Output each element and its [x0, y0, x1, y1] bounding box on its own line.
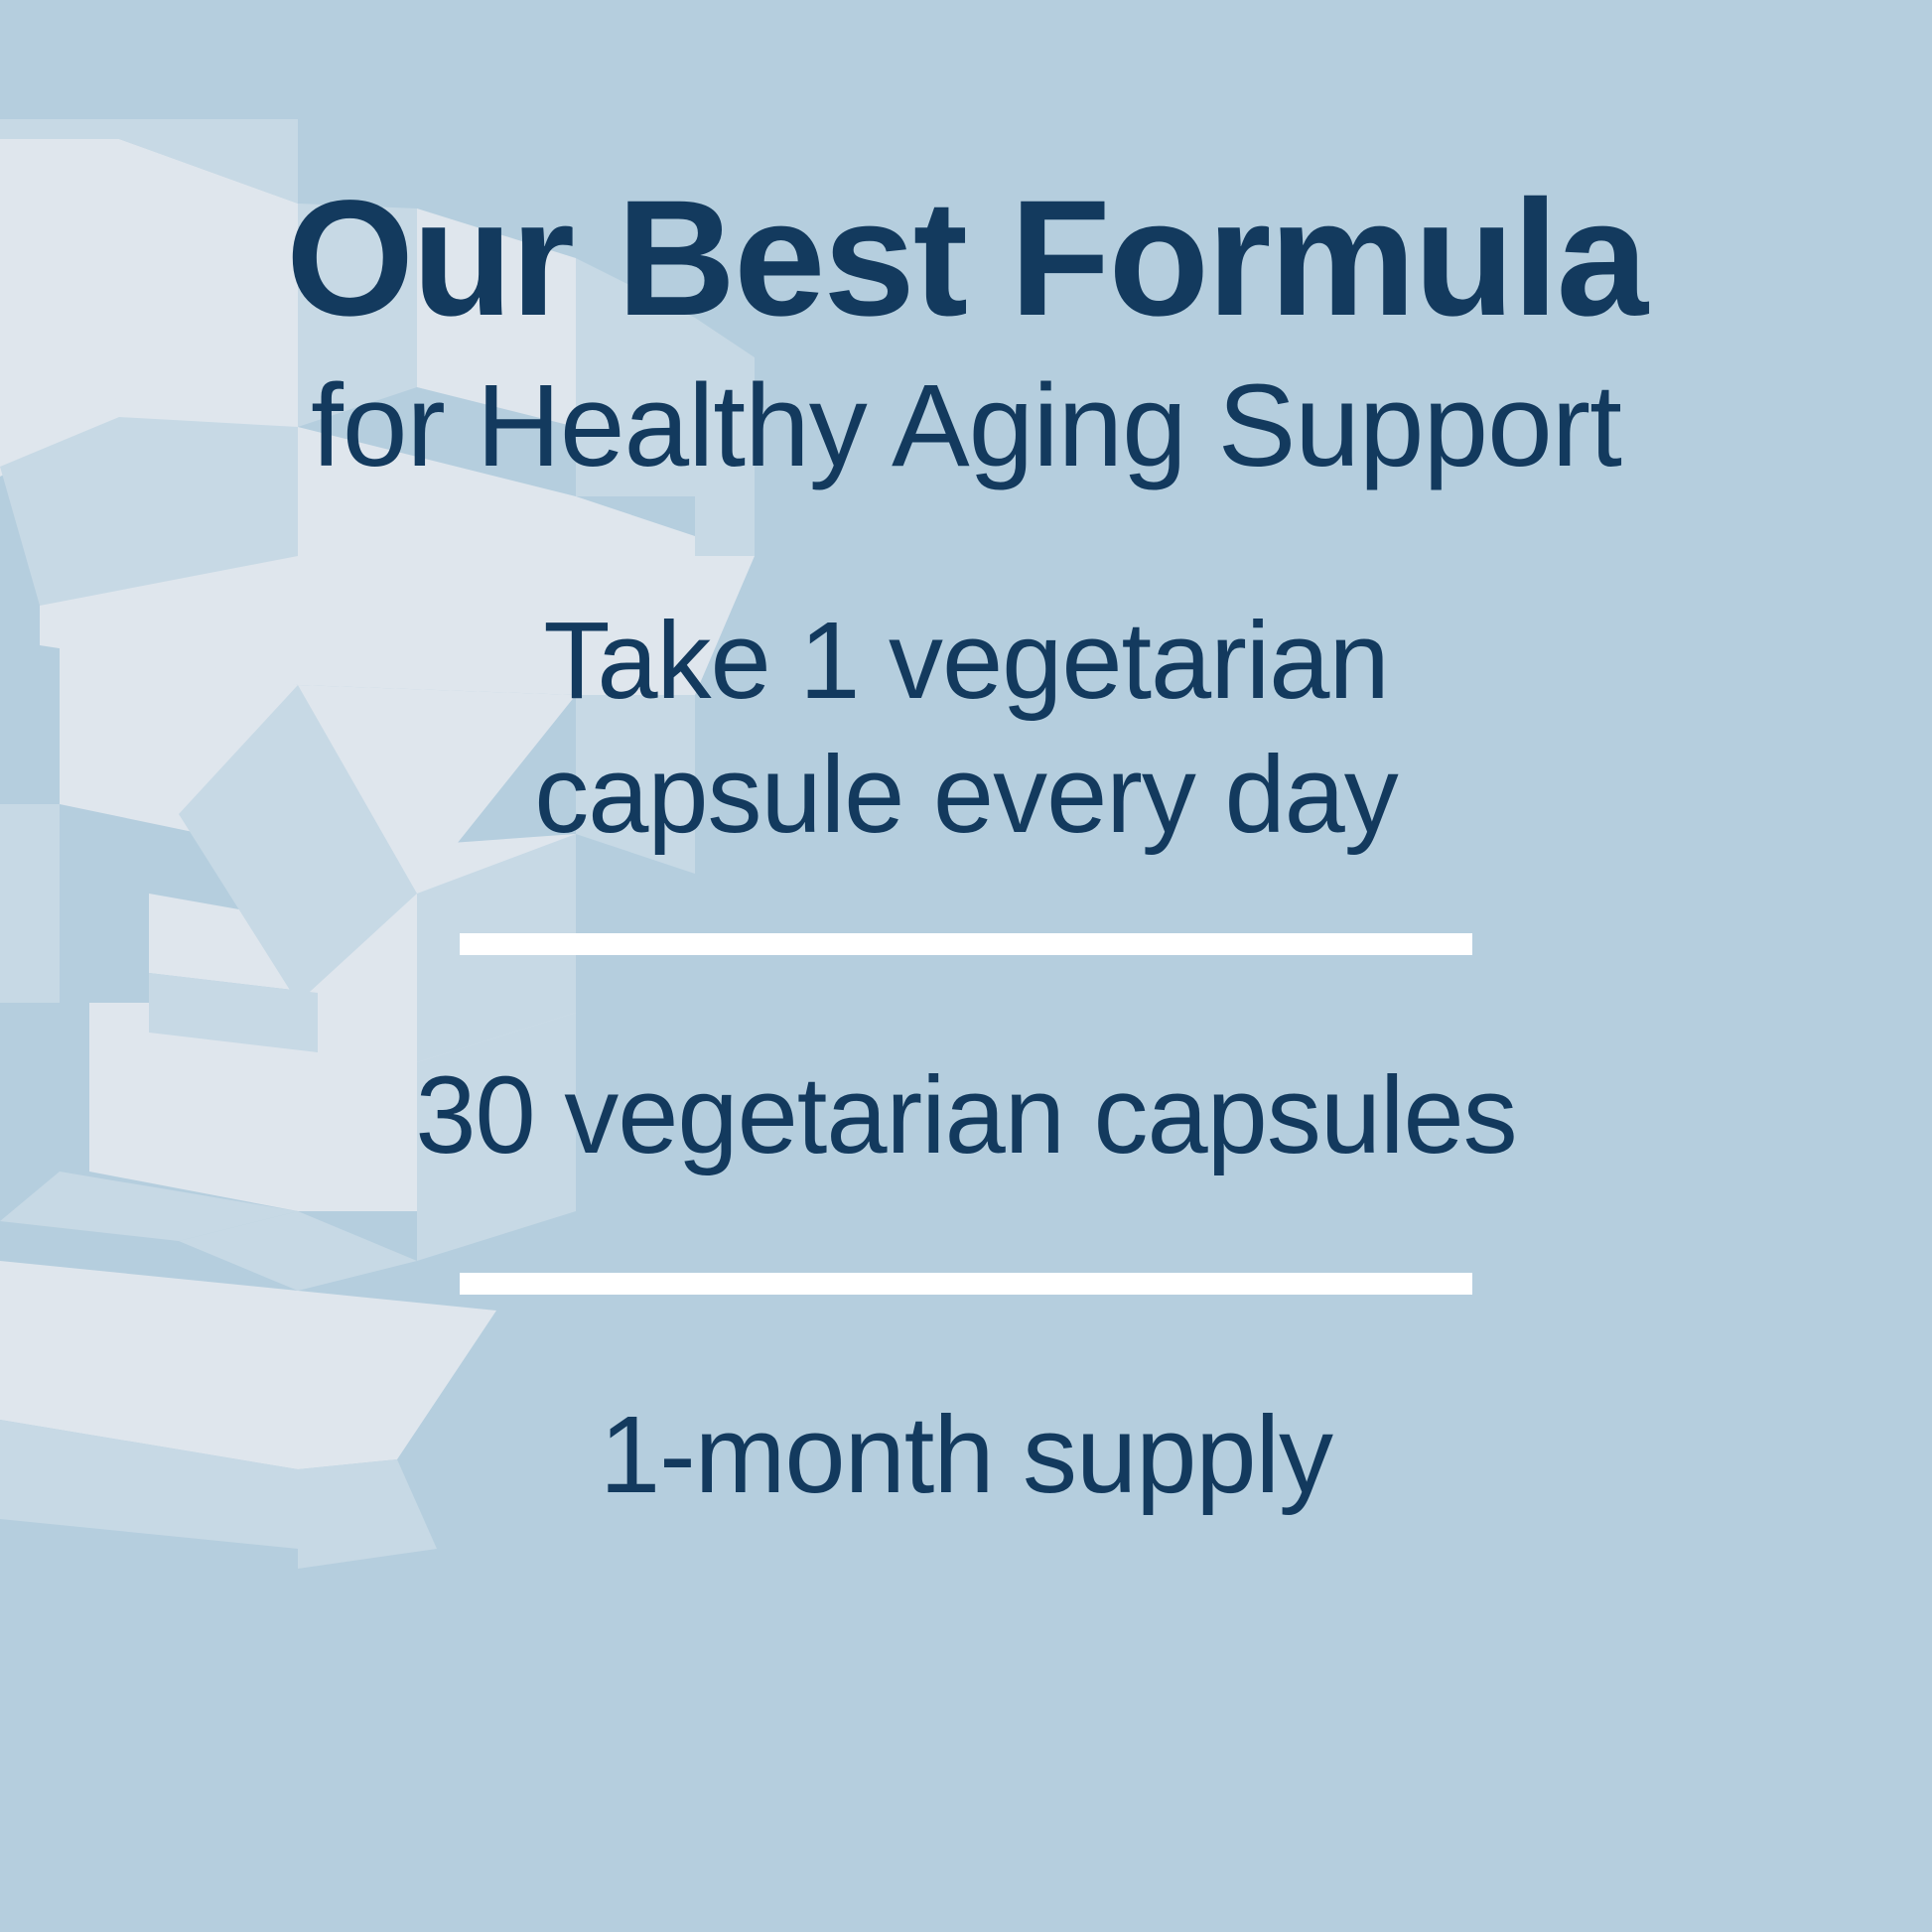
dosage-line-1: Take 1 vegetarian	[543, 600, 1388, 722]
dosage-instruction: Take 1 vegetarian capsule every day	[534, 595, 1398, 861]
product-info-card: Our Best Formula for Healthy Aging Suppo…	[0, 0, 1932, 1932]
supply-duration: 1-month supply	[600, 1390, 1332, 1521]
divider-top	[460, 933, 1472, 955]
page-subtitle: for Healthy Aging Support	[0, 360, 1932, 491]
page-title: Our Best Formula	[0, 175, 1932, 343]
headline-block: Our Best Formula for Healthy Aging Suppo…	[0, 175, 1932, 491]
content-column: Our Best Formula for Healthy Aging Suppo…	[0, 0, 1932, 1932]
divider-bottom	[460, 1273, 1472, 1295]
capsule-count: 30 vegetarian capsules	[415, 1050, 1516, 1181]
dosage-line-2: capsule every day	[534, 734, 1398, 856]
